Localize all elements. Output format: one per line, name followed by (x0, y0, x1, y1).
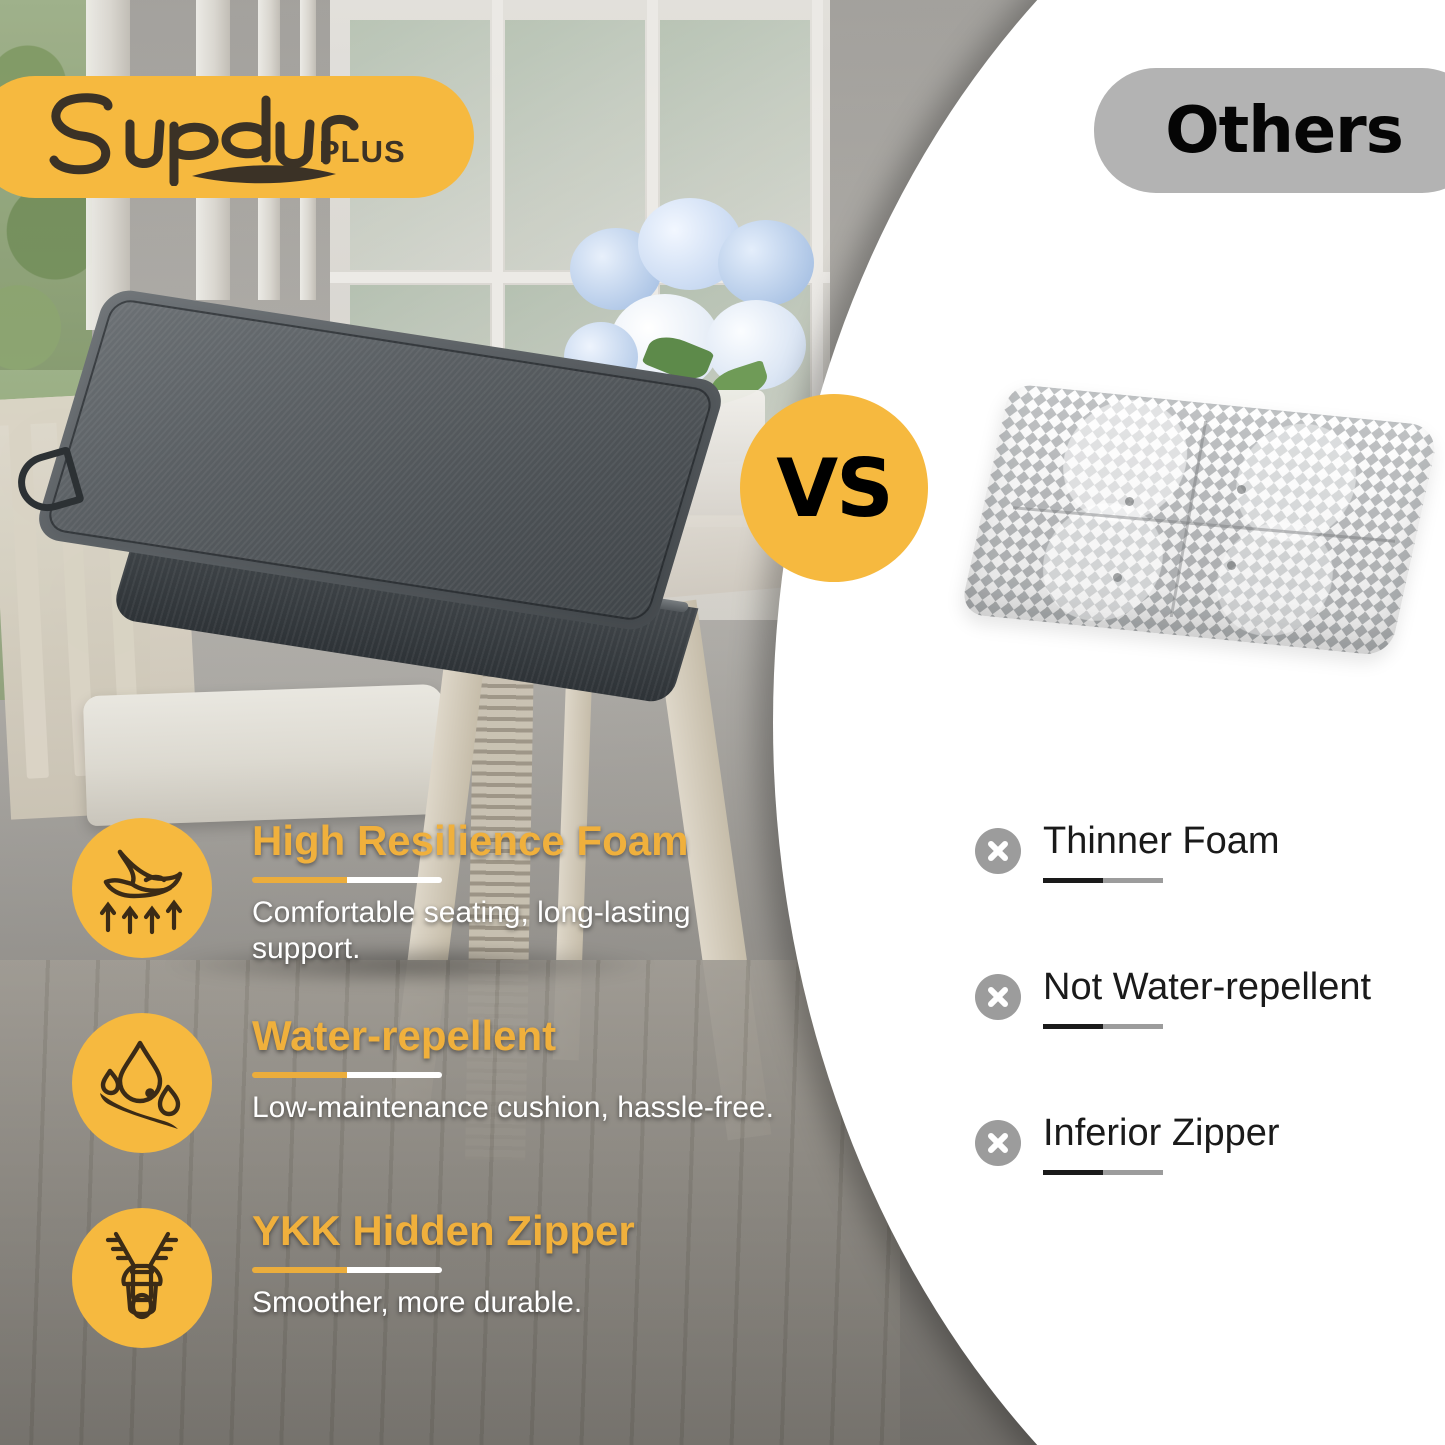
cons-list: Thinner Foam Not Water-repellent (975, 822, 1445, 1260)
brand-logo-badge: PLUS (0, 76, 474, 198)
zipper-icon (72, 1208, 212, 1348)
feature-item: YKK Hidden Zipper Smoother, more durable… (72, 1202, 792, 1397)
feature-list: High Resilience Foam Comfortable seating… (72, 812, 792, 1397)
x-circle-icon (975, 828, 1021, 874)
x-circle-icon (975, 1120, 1021, 1166)
others-label: Others (1165, 94, 1413, 168)
con-item: Thinner Foam (975, 822, 1445, 968)
con-divider (1043, 1024, 1163, 1029)
con-item: Inferior Zipper (975, 1114, 1445, 1260)
feature-subtitle: Smoother, more durable. (252, 1285, 792, 1321)
others-badge: Others (1094, 68, 1445, 193)
logo-plus-label: PLUS (319, 134, 406, 170)
feature-title: Water-repellent (252, 1013, 792, 1058)
x-circle-icon (975, 974, 1021, 1020)
vs-label: VS (776, 442, 892, 535)
feature-divider (252, 1267, 442, 1273)
con-item: Not Water-repellent (975, 968, 1445, 1114)
foam-support-icon (72, 818, 212, 958)
con-divider (1043, 1170, 1163, 1175)
hero-product-cushion (10, 333, 730, 688)
con-title: Inferior Zipper (1043, 1110, 1443, 1158)
water-droplet-icon (72, 1013, 212, 1153)
con-title: Thinner Foam (1043, 818, 1443, 866)
feature-divider (252, 1072, 442, 1078)
feature-subtitle: Comfortable seating, long-lasting suppor… (252, 895, 792, 967)
comparison-infographic: PLUS Others VS (0, 0, 1445, 1445)
competitor-cushion (975, 385, 1425, 670)
feature-subtitle: Low-maintenance cushion, hassle-free. (252, 1090, 792, 1126)
feature-item: High Resilience Foam Comfortable seating… (72, 812, 792, 1007)
feature-item: Water-repellent Low-maintenance cushion,… (72, 1007, 792, 1202)
feature-title: High Resilience Foam (252, 818, 792, 863)
vs-badge: VS (740, 394, 928, 582)
chair-seat-cushion (83, 684, 447, 826)
con-divider (1043, 878, 1163, 883)
con-title: Not Water-repellent (1043, 964, 1443, 1012)
feature-title: YKK Hidden Zipper (252, 1208, 792, 1253)
feature-divider (252, 877, 442, 883)
